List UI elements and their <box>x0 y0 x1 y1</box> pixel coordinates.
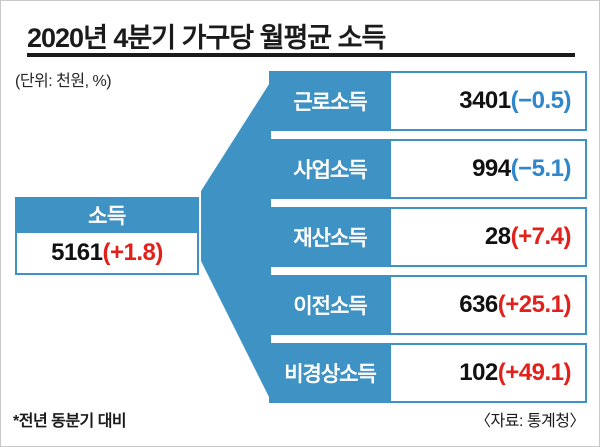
funnel-connector-icon <box>201 81 271 401</box>
list-item: 비경상소득 102(+49.1) <box>269 343 587 403</box>
value-number: 102 <box>459 359 498 387</box>
item-value-earned-income: 3401(−0.5) <box>391 71 587 131</box>
income-breakdown-list: 근로소득 3401(−0.5) 사업소득 994(−5.1) 재산소득 28(+… <box>269 71 587 411</box>
footnote-source: 〈자료: 통계청〉 <box>475 407 585 431</box>
value-delta: (−5.1) <box>511 155 571 183</box>
value-delta: (−0.5) <box>511 87 571 115</box>
footnote-comparison: *전년 동분기 대비 <box>13 407 126 431</box>
value-number: 636 <box>459 291 498 319</box>
item-value-business-income: 994(−5.1) <box>391 139 587 199</box>
item-value-property-income: 28(+7.4) <box>391 207 587 267</box>
item-label-nonrecurring-income: 비경상소득 <box>269 343 391 403</box>
list-item: 이전소득 636(+25.1) <box>269 275 587 335</box>
total-income-value: 5161 <box>51 239 102 267</box>
infographic-card: 2020년 4분기 가구당 월평균 소득 (단위: 천원, %) 소득 5161… <box>0 0 600 447</box>
value-delta: (+25.1) <box>498 291 571 319</box>
title-divider <box>27 53 575 57</box>
value-number: 3401 <box>459 87 510 115</box>
value-delta: (+7.4) <box>511 223 571 251</box>
total-income-label: 소득 <box>15 197 199 233</box>
total-income-delta: (+1.8) <box>103 239 163 267</box>
total-income-node: 소득 5161(+1.8) <box>15 197 199 275</box>
list-item: 근로소득 3401(−0.5) <box>269 71 587 131</box>
page-title: 2020년 4분기 가구당 월평균 소득 <box>27 16 385 55</box>
value-number: 994 <box>472 155 511 183</box>
item-value-nonrecurring-income: 102(+49.1) <box>391 343 587 403</box>
item-value-transfer-income: 636(+25.1) <box>391 275 587 335</box>
total-income-value-box: 5161(+1.8) <box>15 233 199 275</box>
item-label-earned-income: 근로소득 <box>269 71 391 131</box>
item-label-property-income: 재산소득 <box>269 207 391 267</box>
value-number: 28 <box>485 223 511 251</box>
item-label-business-income: 사업소득 <box>269 139 391 199</box>
list-item: 재산소득 28(+7.4) <box>269 207 587 267</box>
list-item: 사업소득 994(−5.1) <box>269 139 587 199</box>
unit-note: (단위: 천원, %) <box>15 67 111 91</box>
value-delta: (+49.1) <box>498 359 571 387</box>
item-label-transfer-income: 이전소득 <box>269 275 391 335</box>
